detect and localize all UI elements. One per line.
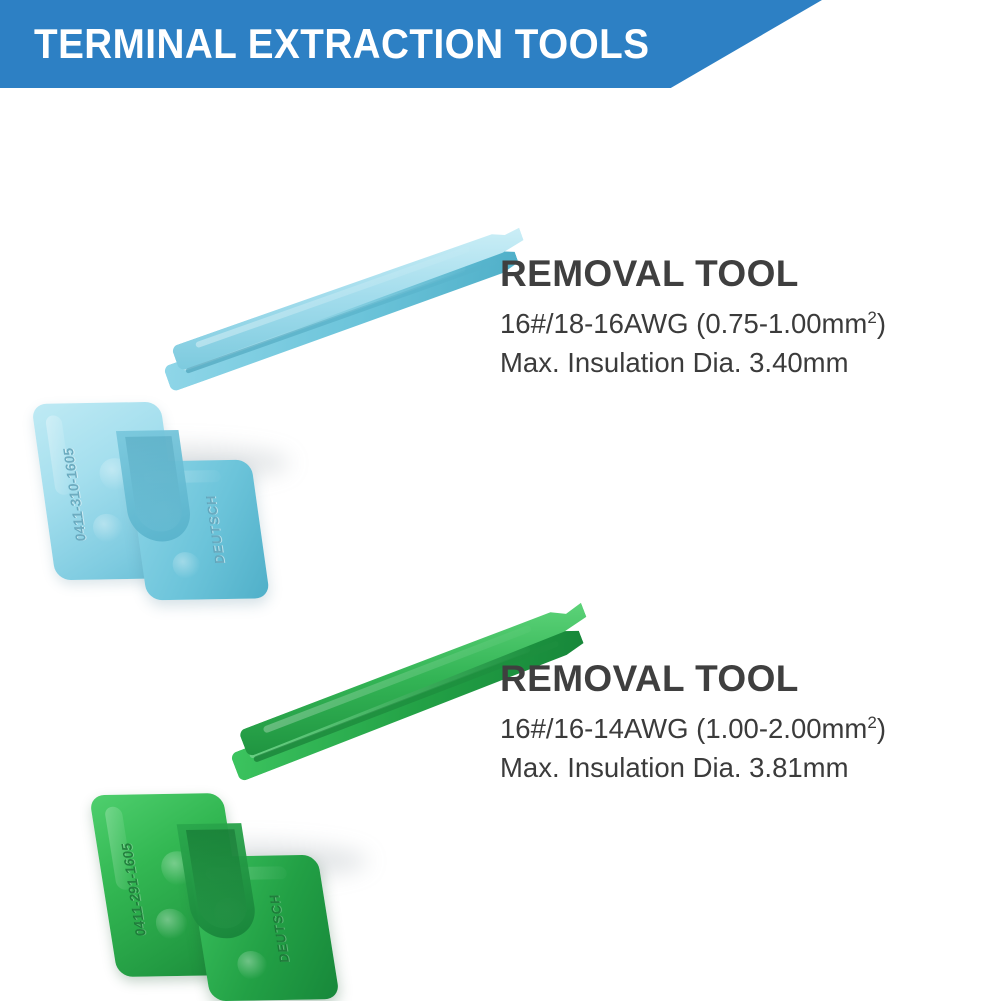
handle-pad-front: DEUTSCH (188, 855, 340, 1001)
pad-rear-dimple-2 (154, 908, 191, 940)
pad-rear-gloss (104, 807, 134, 890)
pad-front-dimple-2 (235, 951, 270, 981)
page-title: TERMINAL EXTRACTION TOOLS (34, 23, 649, 65)
tool-image-blue: 0411-310-1605 DEUTSCH (0, 130, 560, 530)
spec-insulation-green: Max. Insulation Dia. 3.81mm (500, 748, 970, 787)
spec-title-green: REMOVAL TOOL (500, 660, 970, 699)
handle-brand-green: DEUTSCH (266, 894, 292, 963)
tool-shaft-upper (171, 224, 528, 375)
spec-wire-text-green: 16#/16-14AWG (1.00-2.00mm (500, 713, 867, 744)
product-green-removal-tool: 0411-291-1605 DEUTSCH REMOVAL TOOL 16#/1… (0, 505, 1000, 945)
spec-wire-green: 16#/16-14AWG (1.00-2.00mm2) (500, 709, 970, 748)
product-blue-removal-tool: 0411-310-1605 DEUTSCH REMOVAL TOOL 16#/1… (0, 130, 1000, 530)
spec-wire-sup-blue: 2 (867, 308, 876, 327)
pad-front-gloss (205, 866, 288, 880)
spec-wire-text-blue: 16#/18-16AWG (0.75-1.00mm (500, 308, 867, 339)
pad-front-gloss (143, 470, 221, 483)
header-banner: TERMINAL EXTRACTION TOOLS (0, 0, 822, 88)
spec-insulation-blue: Max. Insulation Dia. 3.40mm (500, 343, 970, 382)
prong-upper (171, 224, 527, 371)
spec-wire-end-green: ) (877, 713, 886, 744)
spec-block-blue: REMOVAL TOOL 16#/18-16AWG (0.75-1.00mm2)… (500, 255, 970, 382)
spec-wire-sup-green: 2 (867, 713, 876, 732)
spec-wire-blue: 16#/18-16AWG (0.75-1.00mm2) (500, 304, 970, 343)
pad-rear-gloss (45, 415, 72, 495)
spec-wire-end-blue: ) (877, 308, 886, 339)
spec-title-blue: REMOVAL TOOL (500, 255, 970, 294)
shaft-groove (185, 259, 498, 374)
tool-image-green: 0411-291-1605 DEUTSCH (0, 505, 560, 905)
spec-block-green: REMOVAL TOOL 16#/16-14AWG (1.00-2.00mm2)… (500, 660, 970, 787)
handle-part-number-green: 0411-291-1605 (118, 843, 149, 936)
pad-front-dimple-1 (212, 898, 252, 932)
